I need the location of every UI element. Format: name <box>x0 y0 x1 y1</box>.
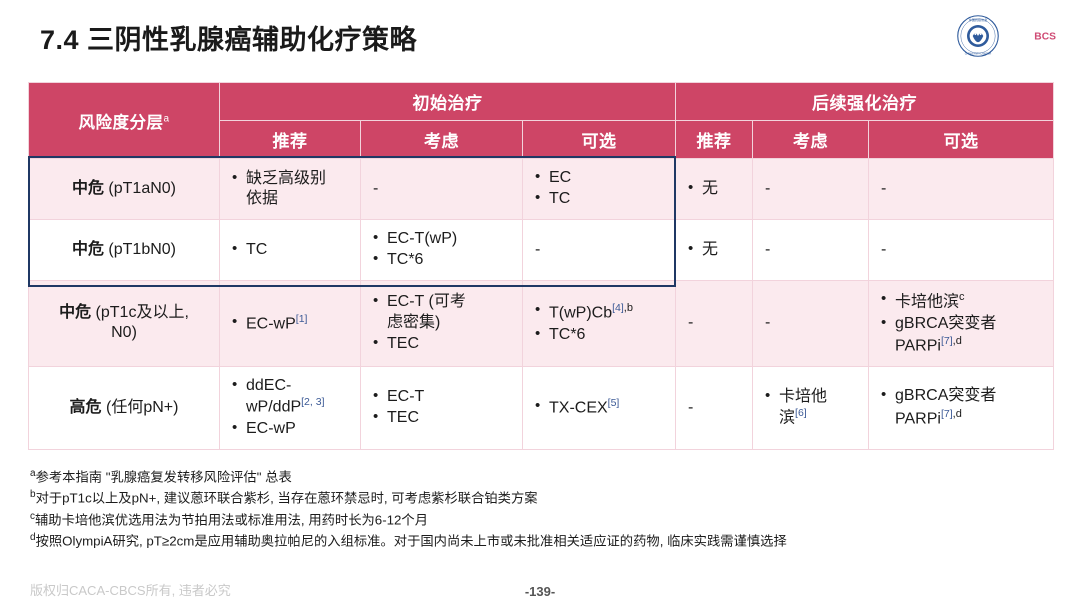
risk-stage-label: (pT1bN0) <box>104 241 176 258</box>
risk-level-label: 中危 <box>59 304 91 321</box>
initial-optional-list: TX-CEX[5] <box>535 397 665 419</box>
cell-followup-consider: - <box>753 280 869 366</box>
col-header-followup-recommend: 推荐 <box>676 121 753 159</box>
followup-optional-list: 卡培他滨cgBRCA突变者 PARPi[7],d <box>881 290 1043 357</box>
list-item: ddEC- wP/ddP[2, 3] <box>232 376 350 418</box>
list-item: EC-T (可考 虑密集) <box>373 292 512 333</box>
list-item: TEC <box>373 408 512 428</box>
cell-initial-recommend: ddEC- wP/ddP[2, 3]EC-wP <box>220 366 361 449</box>
list-item: EC-T(wP) <box>373 229 512 249</box>
followup-consider-value: - <box>765 314 770 331</box>
followup-consider-value: - <box>765 180 770 197</box>
footnote-text: 参考本指南 "乳腺癌复发转移风险评估" 总表 <box>36 469 292 484</box>
list-item: TC <box>535 189 665 209</box>
initial-recommend-list: 缺乏高级别 依据 <box>232 169 350 210</box>
followup-consider-list: 卡培他 滨[6] <box>765 387 858 429</box>
cell-initial-optional: T(wP)Cb[4],bTC*6 <box>523 280 676 366</box>
footnote-text: 按照OlympiA研究, pT≥2cm是应用辅助奥拉帕尼的入组标准。对于国内尚未… <box>36 534 787 549</box>
list-item: 卡培他 滨[6] <box>765 387 858 429</box>
risk-stage-label: (任何pN+) <box>102 399 179 416</box>
table-row: 中危 (pT1aN0)缺乏高级别 依据-ECTC无-- <box>29 159 1054 220</box>
cell-initial-optional: - <box>523 219 676 280</box>
footnote-marker: ,d <box>953 335 962 347</box>
list-item: T(wP)Cb[4],b <box>535 301 665 324</box>
initial-optional-list: ECTC <box>535 168 665 210</box>
cell-followup-consider: - <box>753 219 869 280</box>
cell-initial-consider: - <box>361 159 523 220</box>
svg-text:BCS: BCS <box>1034 31 1056 42</box>
table-row: 高危 (任何pN+)ddEC- wP/ddP[2, 3]EC-wPEC-TTEC… <box>29 366 1054 449</box>
page-number: -139- <box>0 584 1080 599</box>
initial-recommend-list: EC-wP[1] <box>232 313 350 335</box>
cell-followup-optional: - <box>869 219 1054 280</box>
list-item: gBRCA突变者 PARPi[7],d <box>881 386 1043 429</box>
cell-initial-optional: ECTC <box>523 159 676 220</box>
col-header-followup-consider: 考虑 <box>753 121 869 159</box>
cell-followup-optional: gBRCA突变者 PARPi[7],d <box>869 366 1054 449</box>
risk-level-label: 高危 <box>70 399 102 416</box>
cell-followup-recommend: 无 <box>676 219 753 280</box>
table-row: 中危 (pT1bN0)TCEC-T(wP)TC*6-无-- <box>29 219 1054 280</box>
col-group-initial-treatment: 初始治疗 <box>220 83 676 121</box>
initial-recommend-list: TC <box>232 240 350 260</box>
logo-group: 中国抗癌协会 CHINA ANTI-CANCER BCS <box>956 14 1064 58</box>
footnote-list: a参考本指南 "乳腺癌复发转移风险评估" 总表b对于pT1c以上及pN+, 建议… <box>30 466 1065 552</box>
followup-recommend-list: 无 <box>688 240 742 260</box>
cell-followup-recommend: - <box>676 280 753 366</box>
reference-marker: [4] <box>612 302 624 314</box>
table-head: 风险度分层a 初始治疗 后续强化治疗 推荐 考虑 可选 推荐 考虑 可选 <box>29 83 1054 159</box>
followup-optional-list: gBRCA突变者 PARPi[7],d <box>881 386 1043 429</box>
list-item: EC-wP <box>232 419 350 439</box>
cell-risk-stratification: 中危 (pT1c及以上, N0) <box>29 280 220 366</box>
cell-initial-consider: EC-T(wP)TC*6 <box>361 219 523 280</box>
cell-followup-optional: - <box>869 159 1054 220</box>
svg-text:CHINA ANTI-CANCER: CHINA ANTI-CANCER <box>965 51 992 55</box>
reference-marker: [1] <box>296 313 308 325</box>
risk-stage-label: (pT1aN0) <box>104 180 176 197</box>
cell-followup-recommend: 无 <box>676 159 753 220</box>
reference-marker: [2, 3] <box>301 396 324 408</box>
reference-marker: [6] <box>795 407 807 419</box>
cell-initial-recommend: TC <box>220 219 361 280</box>
list-item: TEC <box>373 334 512 354</box>
page-title: 7.4 三阴性乳腺癌辅助化疗策略 <box>40 18 417 57</box>
slide-canvas: 7.4 三阴性乳腺癌辅助化疗策略 中国抗癌协会 CHINA ANTI-CANCE… <box>0 0 1080 608</box>
initial-optional-value: - <box>535 241 540 258</box>
table-head-row-groups: 风险度分层a 初始治疗 后续强化治疗 <box>29 83 1054 121</box>
footnote-text: 对于pT1c以上及pN+, 建议蒽环联合紫杉, 当存在蒽环禁忌时, 可考虑紫杉联… <box>36 491 538 506</box>
cell-risk-stratification: 高危 (任何pN+) <box>29 366 220 449</box>
initial-consider-list: EC-T(wP)TC*6 <box>373 229 512 271</box>
footnote-b: b对于pT1c以上及pN+, 建议蒽环联合紫杉, 当存在蒽环禁忌时, 可考虑紫杉… <box>30 487 1065 508</box>
list-item: TC*6 <box>535 325 665 345</box>
list-item: 无 <box>688 240 742 260</box>
cell-followup-optional: 卡培他滨cgBRCA突变者 PARPi[7],d <box>869 280 1054 366</box>
cell-followup-consider: 卡培他 滨[6] <box>753 366 869 449</box>
cell-followup-consider: - <box>753 159 869 220</box>
list-item: gBRCA突变者 PARPi[7],d <box>881 314 1043 357</box>
col-header-initial-optional: 可选 <box>523 121 676 159</box>
table-row: 中危 (pT1c及以上, N0)EC-wP[1]EC-T (可考 虑密集)TEC… <box>29 280 1054 366</box>
footnote-d: d按照OlympiA研究, pT≥2cm是应用辅助奥拉帕尼的入组标准。对于国内尚… <box>30 530 1065 551</box>
svg-text:中国抗癌协会: 中国抗癌协会 <box>969 17 987 22</box>
list-item: EC <box>535 168 665 188</box>
followup-optional-value: - <box>881 241 886 258</box>
cell-followup-recommend: - <box>676 366 753 449</box>
footnote-c: c辅助卡培他滨优选用法为节拍用法或标准用法, 用药时长为6-12个月 <box>30 509 1065 530</box>
footnote-text: 辅助卡培他滨优选用法为节拍用法或标准用法, 用药时长为6-12个月 <box>35 512 428 527</box>
initial-optional-list: T(wP)Cb[4],bTC*6 <box>535 301 665 345</box>
list-item: EC-wP[1] <box>232 313 350 335</box>
followup-consider-value: - <box>765 241 770 258</box>
reference-marker: [5] <box>608 397 620 409</box>
caca-logo-icon: 中国抗癌协会 CHINA ANTI-CANCER <box>956 14 1000 58</box>
cell-initial-recommend: 缺乏高级别 依据 <box>220 159 361 220</box>
reference-marker: [7] <box>941 335 953 347</box>
followup-recommend-value: - <box>688 399 693 416</box>
col-group-followup-treatment: 后续强化治疗 <box>676 83 1054 121</box>
list-item: EC-T <box>373 387 512 407</box>
footnote-a: a参考本指南 "乳腺癌复发转移风险评估" 总表 <box>30 466 1065 487</box>
footnote-marker: ,d <box>953 408 962 420</box>
cell-initial-consider: EC-T (可考 虑密集)TEC <box>361 280 523 366</box>
footnote-marker-a-sup: a <box>163 113 169 124</box>
cell-initial-optional: TX-CEX[5] <box>523 366 676 449</box>
list-item: TC*6 <box>373 250 512 270</box>
cell-initial-recommend: EC-wP[1] <box>220 280 361 366</box>
followup-recommend-list: 无 <box>688 179 742 199</box>
col-header-followup-optional: 可选 <box>869 121 1054 159</box>
cell-risk-stratification: 中危 (pT1bN0) <box>29 219 220 280</box>
list-item: TX-CEX[5] <box>535 397 665 419</box>
bcs-logo-icon: BCS <box>1004 14 1064 58</box>
col-header-risk: 风险度分层a <box>29 83 220 159</box>
reference-marker: [7] <box>941 408 953 420</box>
list-item: 缺乏高级别 依据 <box>232 169 350 210</box>
initial-consider-value: - <box>373 180 378 197</box>
col-header-initial-consider: 考虑 <box>361 121 523 159</box>
followup-optional-value: - <box>881 180 886 197</box>
list-item: 卡培他滨c <box>881 290 1043 313</box>
chemotherapy-strategy-table: 风险度分层a 初始治疗 后续强化治疗 推荐 考虑 可选 推荐 考虑 可选 中危 … <box>28 82 1054 450</box>
risk-level-label: 中危 <box>72 180 104 197</box>
initial-consider-list: EC-TTEC <box>373 387 512 429</box>
cell-initial-consider: EC-TTEC <box>361 366 523 449</box>
initial-consider-list: EC-T (可考 虑密集)TEC <box>373 292 512 354</box>
table-body: 中危 (pT1aN0)缺乏高级别 依据-ECTC无--中危 (pT1bN0)TC… <box>29 159 1054 450</box>
footnote-marker: ,b <box>624 302 633 314</box>
list-item: 无 <box>688 179 742 199</box>
followup-recommend-value: - <box>688 314 693 331</box>
cell-risk-stratification: 中危 (pT1aN0) <box>29 159 220 220</box>
col-header-initial-recommend: 推荐 <box>220 121 361 159</box>
risk-level-label: 中危 <box>72 241 104 258</box>
list-item: TC <box>232 240 350 260</box>
risk-stage-label: (pT1c及以上, N0) <box>91 304 189 341</box>
footnote-marker: c <box>959 291 965 303</box>
initial-recommend-list: ddEC- wP/ddP[2, 3]EC-wP <box>232 376 350 440</box>
